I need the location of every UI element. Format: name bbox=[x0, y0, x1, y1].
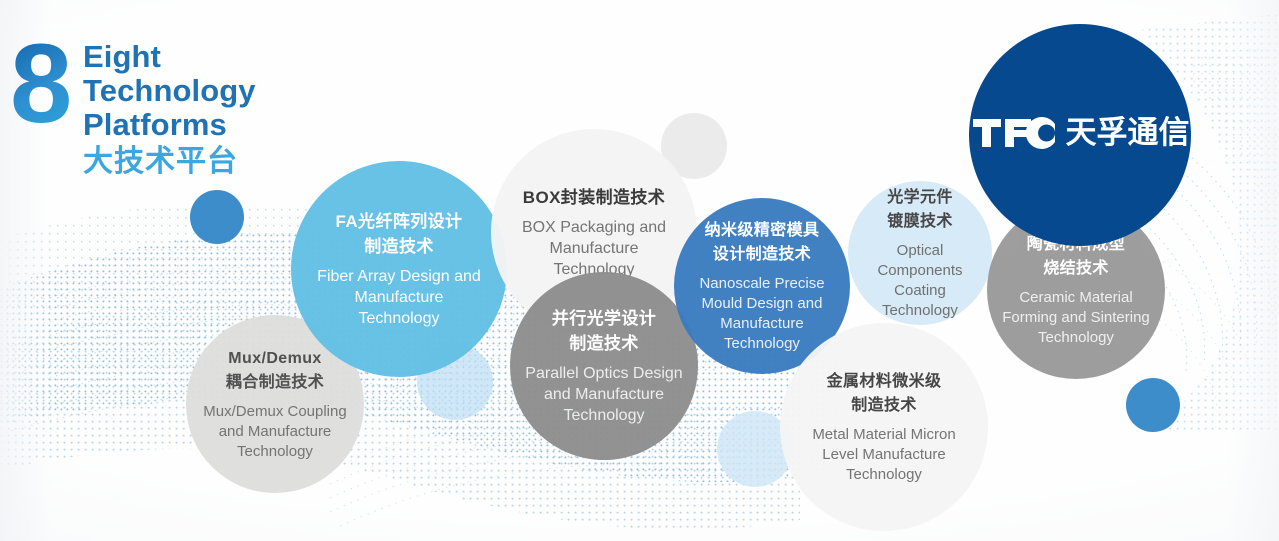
headline-title-cn: 大技术平台 bbox=[83, 144, 256, 180]
bubble-title-cn-line: FA光纤阵列设计 bbox=[336, 209, 463, 234]
bubble-title-cn: Mux/Demux耦合制造技术 bbox=[226, 347, 324, 395]
headline-title-line1: Eight Technology bbox=[83, 40, 256, 108]
bubble-title-en: Parallel Optics Designand ManufactureTec… bbox=[525, 363, 682, 426]
bubble-title-en-line: Forming and Sintering bbox=[1002, 308, 1150, 328]
bubble-title-en-line: Technology bbox=[699, 334, 824, 354]
bubble-title-en-line: Technology bbox=[203, 442, 346, 462]
bubble-title-en-line: Technology bbox=[812, 465, 955, 485]
company-name-cn: 天孚通信 bbox=[1066, 117, 1190, 149]
bubble-title-cn-line: 金属材料微米级 bbox=[827, 370, 942, 394]
bubble-title-en-line: Manufacture bbox=[699, 314, 824, 334]
bubble-title-en-line: Coating bbox=[877, 281, 962, 301]
bubble-title-cn: 光学元件镀膜技术 bbox=[887, 186, 953, 234]
bubble-title-en-line: Technology bbox=[877, 301, 962, 321]
bubble-title-en-line: and Manufacture bbox=[203, 422, 346, 442]
bubble-title-cn-line: Mux/Demux bbox=[226, 347, 324, 371]
bubble-title-en-line: Mux/Demux Coupling bbox=[203, 402, 346, 422]
bubble-title-en-line: Technology bbox=[525, 405, 682, 426]
bubble-title-cn: FA光纤阵列设计制造技术 bbox=[336, 209, 463, 259]
bubble-title-cn-line: 纳米级精密模具 bbox=[705, 219, 820, 243]
bubble-title-cn-line: 光学元件 bbox=[887, 186, 953, 210]
company-logo-circle: 天孚通信 bbox=[969, 24, 1191, 246]
bubble-title-en-line: Manufacture bbox=[522, 238, 666, 259]
bubble-title-en-line: Technology bbox=[317, 308, 481, 329]
bubble-title-en-line: Metal Material Micron bbox=[812, 425, 955, 445]
tfc-wordmark-icon bbox=[971, 115, 1057, 151]
bubble-title-en-line: Components bbox=[877, 261, 962, 281]
bubble-title-cn-line: 设计制造技术 bbox=[705, 243, 820, 267]
headline-text-block: Eight Technology Platforms 大技术平台 bbox=[83, 40, 256, 180]
bubble-title-cn: 金属材料微米级制造技术 bbox=[827, 370, 942, 418]
bubble-title-cn-line: 制造技术 bbox=[552, 331, 656, 356]
company-logo-lockup: 天孚通信 bbox=[971, 115, 1190, 151]
bubble-title-en-line: Ceramic Material bbox=[1002, 288, 1150, 308]
bubble-title-en-line: Parallel Optics Design bbox=[525, 363, 682, 384]
bubble-title-en-line: Nanoscale Precise bbox=[699, 274, 824, 294]
headline-number: 8 bbox=[10, 28, 70, 140]
bubble-title-cn-line: 制造技术 bbox=[827, 394, 942, 418]
bubble-title-en: OpticalComponentsCoatingTechnology bbox=[877, 241, 962, 321]
bubble-title-en-line: and Manufacture bbox=[525, 384, 682, 405]
bubble-title-en: BOX Packaging andManufactureTechnology bbox=[522, 217, 666, 280]
bubble-title-en: Fiber Array Design andManufactureTechnol… bbox=[317, 266, 481, 329]
technology-bubble-optical-coating[interactable]: 光学元件镀膜技术OpticalComponentsCoatingTechnolo… bbox=[848, 181, 992, 325]
bubble-title-en-line: Mould Design and bbox=[699, 294, 824, 314]
accent-blue-right bbox=[1126, 378, 1180, 432]
bubble-title-cn-line: 并行光学设计 bbox=[552, 306, 656, 331]
bubble-title-en-line: Level Manufacture bbox=[812, 445, 955, 465]
bubble-title-cn: 并行光学设计制造技术 bbox=[552, 306, 656, 356]
bubble-title-cn-line: 制造技术 bbox=[336, 234, 463, 259]
bubble-title-en-line: Technology bbox=[1002, 328, 1150, 348]
bubble-title-cn-line: 耦合制造技术 bbox=[226, 371, 324, 395]
bubble-title-en: Nanoscale PreciseMould Design andManufac… bbox=[699, 274, 824, 354]
technology-bubble-parallel-optics[interactable]: 并行光学设计制造技术Parallel Optics Designand Manu… bbox=[510, 272, 698, 460]
bubble-title-cn: BOX封装制造技术 bbox=[523, 185, 665, 210]
technology-bubble-metal-micron[interactable]: 金属材料微米级制造技术Metal Material MicronLevel Ma… bbox=[780, 323, 988, 531]
technology-bubble-fiber-array[interactable]: FA光纤阵列设计制造技术Fiber Array Design andManufa… bbox=[291, 161, 507, 377]
bubble-title-en-line: Fiber Array Design and bbox=[317, 266, 481, 287]
bubble-title-cn: 纳米级精密模具设计制造技术 bbox=[705, 219, 820, 267]
bubble-title-en: Metal Material MicronLevel ManufactureTe… bbox=[812, 425, 955, 485]
bubble-title-en: Ceramic MaterialForming and SinteringTec… bbox=[1002, 288, 1150, 348]
bubble-title-en-line: Optical bbox=[877, 241, 962, 261]
bubble-title-cn-line: BOX封装制造技术 bbox=[523, 185, 665, 210]
bubble-title-en: Mux/Demux Couplingand ManufactureTechnol… bbox=[203, 402, 346, 462]
accent-blue-left bbox=[190, 190, 244, 244]
headline-title-line2: Platforms bbox=[83, 108, 256, 142]
bubble-title-en-line: Manufacture bbox=[317, 287, 481, 308]
bubble-title-en-line: BOX Packaging and bbox=[522, 217, 666, 238]
infographic-canvas: 8 Eight Technology Platforms 大技术平台 Mux/D… bbox=[0, 0, 1279, 541]
bubble-title-cn-line: 镀膜技术 bbox=[887, 210, 953, 234]
bubble-title-cn-line: 烧结技术 bbox=[1027, 257, 1125, 281]
